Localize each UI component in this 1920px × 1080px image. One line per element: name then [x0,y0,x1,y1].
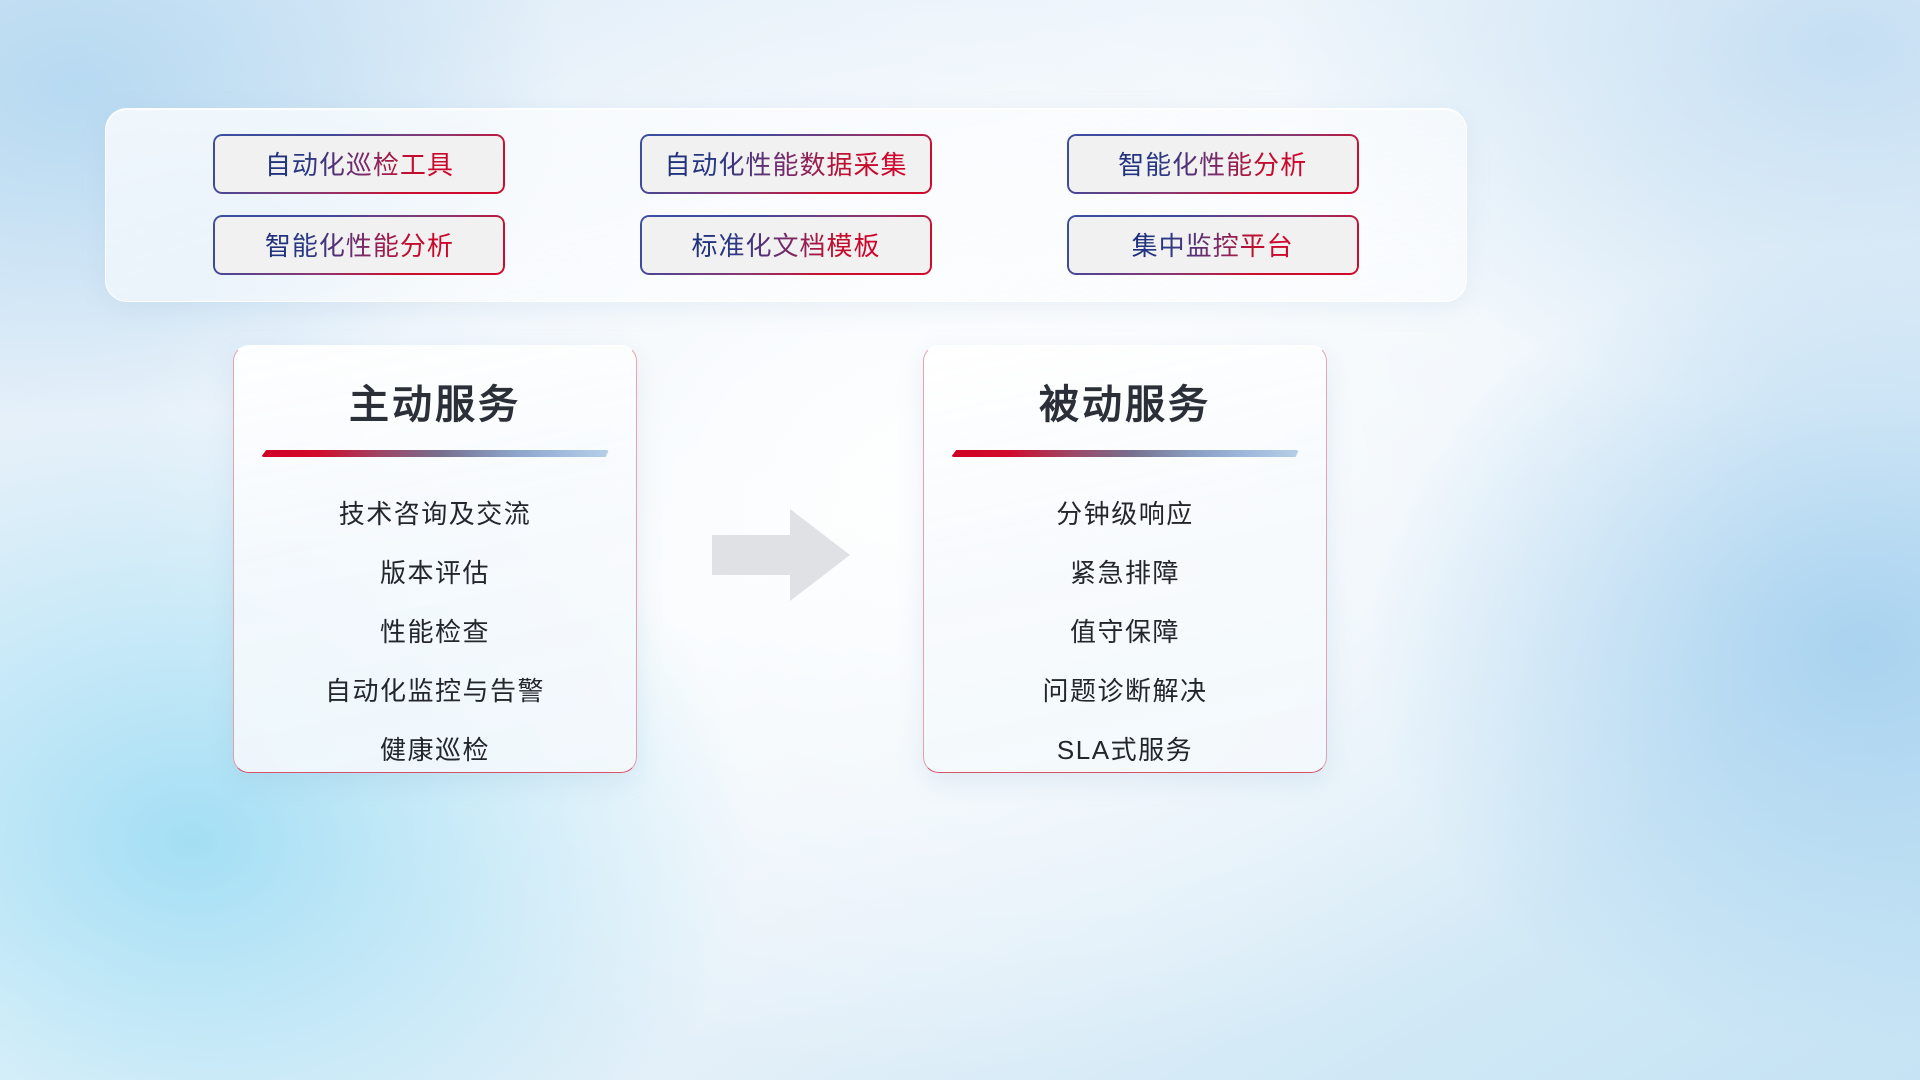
capability-chip[interactable]: 智能化性能分析 [213,215,505,275]
capability-chip-label: 自动化性能数据采集 [664,145,907,182]
capability-chip-label: 标准化文档模板 [691,226,880,263]
capability-chip-label: 自动化巡检工具 [265,145,454,182]
capability-chip-label: 智能化性能分析 [1118,145,1307,182]
list-item: 问题诊断解决 [1042,662,1207,721]
arrow-right-icon [712,505,852,605]
capability-chip[interactable]: 集中监控平台 [1067,215,1359,275]
card-title-divider [951,450,1299,457]
list-item: 技术咨询及交流 [339,485,532,544]
capability-chip[interactable]: 标准化文档模板 [640,215,932,275]
list-item: 性能检查 [380,603,490,662]
capability-chip[interactable]: 智能化性能分析 [1067,134,1359,194]
slide-canvas: 自动化巡检工具 自动化性能数据采集 智能化性能分析 智能化性能分析 标准化文档模… [0,0,1920,1080]
list-item: 自动化监控与告警 [325,662,545,721]
list-item: 分钟级响应 [1056,485,1194,544]
list-item: 版本评估 [380,544,490,603]
list-item: 值守保障 [1070,603,1180,662]
capability-chip[interactable]: 自动化巡检工具 [213,134,505,194]
card-title-divider [261,450,609,457]
list-item: 紧急排障 [1070,544,1180,603]
capability-chip-label: 智能化性能分析 [265,226,454,263]
service-card-passive: 被动服务 分钟级响应 紧急排障 值守保障 问题诊断解决 SLA式服务 [923,345,1327,773]
card-item-list: 分钟级响应 紧急排障 值守保障 问题诊断解决 SLA式服务 [924,485,1326,773]
list-item: SLA式服务 [1057,721,1193,773]
card-title: 被动服务 [924,372,1326,430]
card-item-list: 技术咨询及交流 版本评估 性能检查 自动化监控与告警 健康巡检 [234,485,636,773]
list-item: 健康巡检 [380,721,490,773]
card-title: 主动服务 [234,372,636,430]
capability-chip[interactable]: 自动化性能数据采集 [640,134,932,194]
service-card-active: 主动服务 技术咨询及交流 版本评估 性能检查 自动化监控与告警 健康巡检 [233,345,637,773]
capability-chips-panel: 自动化巡检工具 自动化性能数据采集 智能化性能分析 智能化性能分析 标准化文档模… [105,108,1467,302]
capability-chip-label: 集中监控平台 [1132,226,1294,263]
